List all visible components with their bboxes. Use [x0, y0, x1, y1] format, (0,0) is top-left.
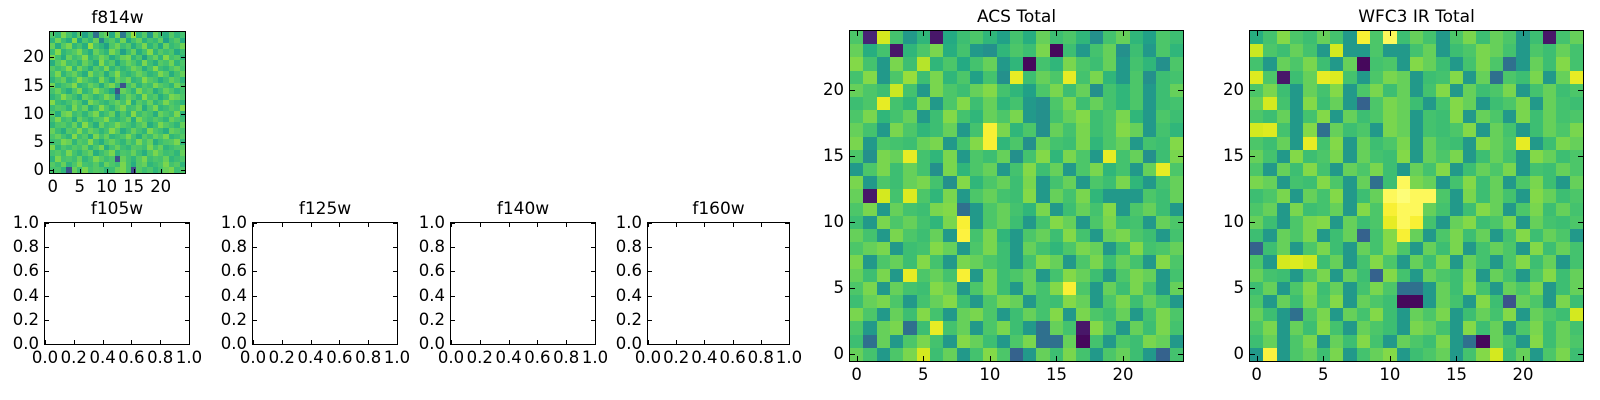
y-tick-mark: [591, 344, 595, 345]
x-tick-mark: [339, 340, 340, 344]
y-tick-mark: [185, 247, 189, 248]
y-tick-mark: [1578, 156, 1583, 157]
matplotlib-figure: f814w0510152005101520f105w0.00.20.40.60.…: [0, 0, 1600, 400]
y-tick-label: 1.0: [419, 215, 445, 232]
x-tick-label: 20: [1113, 367, 1134, 384]
x-tick-mark: [1523, 356, 1524, 361]
x-tick-label: 0.4: [691, 350, 717, 367]
y-tick-mark: [591, 296, 595, 297]
y-tick-label: 10: [1223, 214, 1244, 231]
y-tick-label: 0.2: [221, 312, 247, 329]
x-tick-mark: [733, 340, 734, 344]
x-tick-label: 15: [123, 179, 144, 196]
x-tick-mark: [733, 223, 734, 227]
x-tick-mark: [1523, 31, 1524, 36]
x-tick-mark: [676, 340, 677, 344]
x-tick-mark: [1390, 31, 1391, 36]
x-tick-mark: [1456, 31, 1457, 36]
x-tick-mark: [80, 32, 81, 36]
y-tick-mark: [785, 271, 789, 272]
x-tick-mark: [857, 31, 858, 36]
x-tick-mark: [990, 356, 991, 361]
y-tick-mark: [1178, 156, 1183, 157]
y-tick-mark: [253, 271, 257, 272]
y-tick-mark: [1250, 222, 1255, 223]
y-tick-mark: [45, 223, 49, 224]
y-tick-mark: [451, 247, 455, 248]
y-tick-mark: [393, 223, 397, 224]
y-tick-mark: [850, 90, 855, 91]
y-tick-label: 0.6: [419, 263, 445, 280]
y-tick-label: 20: [823, 82, 844, 99]
x-tick-label: 5: [1318, 367, 1329, 384]
y-tick-label: 0.0: [616, 336, 642, 353]
y-tick-label: 0.2: [13, 312, 39, 329]
x-tick-mark: [161, 169, 162, 173]
y-tick-mark: [785, 296, 789, 297]
x-tick-mark: [923, 31, 924, 36]
y-tick-mark: [1250, 90, 1255, 91]
x-tick-label: 0.8: [355, 350, 381, 367]
y-tick-mark: [393, 344, 397, 345]
x-tick-mark: [1323, 356, 1324, 361]
x-tick-label: 0: [47, 179, 58, 196]
x-tick-mark: [566, 340, 567, 344]
x-tick-mark: [595, 340, 596, 344]
y-tick-mark: [185, 320, 189, 321]
x-tick-label: 1.0: [384, 350, 410, 367]
x-tick-mark: [857, 356, 858, 361]
y-tick-mark: [785, 320, 789, 321]
x-tick-label: 5: [74, 179, 85, 196]
x-tick-mark: [189, 223, 190, 227]
y-tick-label: 0.6: [616, 263, 642, 280]
x-tick-mark: [761, 223, 762, 227]
x-tick-label: 1.0: [176, 350, 202, 367]
x-tick-label: 0.4: [495, 350, 521, 367]
f105w-axes-axes-frame: f105w0.00.20.40.60.81.00.00.20.40.60.81.…: [44, 222, 190, 345]
wfc3-ir-total-heatmap-title: WFC3 IR Total: [1358, 9, 1475, 26]
x-tick-mark: [160, 340, 161, 344]
y-tick-mark: [451, 296, 455, 297]
x-tick-label: 0.6: [719, 350, 745, 367]
y-tick-label: 0: [834, 346, 845, 363]
y-tick-mark: [253, 320, 257, 321]
x-tick-label: 0: [851, 367, 862, 384]
x-tick-mark: [566, 223, 567, 227]
y-tick-mark: [648, 320, 652, 321]
y-tick-label: 0.8: [419, 239, 445, 256]
y-tick-label: 0.4: [419, 287, 445, 304]
y-tick-label: 0.8: [221, 239, 247, 256]
x-tick-mark: [537, 340, 538, 344]
y-tick-mark: [591, 223, 595, 224]
y-tick-mark: [50, 114, 54, 115]
x-tick-mark: [480, 223, 481, 227]
y-tick-mark: [50, 170, 54, 171]
y-tick-mark: [648, 344, 652, 345]
f814w-heatmap-axes-frame: f814w0510152005101520: [49, 31, 186, 174]
y-tick-mark: [393, 271, 397, 272]
f125w-axes-axes-frame: f125w0.00.20.40.60.81.00.00.20.40.60.81.…: [252, 222, 398, 345]
f140w-axes-title: f140w: [497, 201, 549, 218]
y-tick-label: 1.0: [221, 215, 247, 232]
y-tick-label: 15: [1223, 148, 1244, 165]
y-tick-mark: [253, 247, 257, 248]
x-tick-mark: [509, 340, 510, 344]
y-tick-mark: [850, 288, 855, 289]
y-tick-mark: [1178, 90, 1183, 91]
y-tick-label: 10: [823, 214, 844, 231]
y-tick-label: 0.8: [13, 239, 39, 256]
y-tick-mark: [591, 320, 595, 321]
x-tick-mark: [134, 32, 135, 36]
y-tick-mark: [45, 247, 49, 248]
x-tick-mark: [282, 223, 283, 227]
y-tick-mark: [591, 271, 595, 272]
y-tick-label: 5: [34, 134, 45, 151]
x-tick-label: 0.6: [524, 350, 550, 367]
y-tick-mark: [253, 296, 257, 297]
x-tick-label: 5: [918, 367, 929, 384]
y-tick-mark: [1178, 288, 1183, 289]
x-tick-mark: [595, 223, 596, 227]
x-tick-label: 0.2: [467, 350, 493, 367]
x-tick-label: 0.6: [326, 350, 352, 367]
y-tick-mark: [393, 320, 397, 321]
x-tick-label: 15: [1046, 367, 1067, 384]
y-tick-label: 0.6: [13, 263, 39, 280]
x-tick-label: 10: [979, 367, 1000, 384]
y-tick-label: 0: [34, 162, 45, 179]
acs-total-heatmap-title: ACS Total: [977, 9, 1056, 26]
x-tick-mark: [923, 356, 924, 361]
x-tick-mark: [368, 223, 369, 227]
y-tick-label: 0.2: [616, 312, 642, 329]
y-tick-mark: [785, 223, 789, 224]
x-tick-mark: [397, 223, 398, 227]
y-tick-mark: [850, 222, 855, 223]
y-tick-label: 1.0: [616, 215, 642, 232]
y-tick-mark: [785, 247, 789, 248]
y-tick-mark: [185, 271, 189, 272]
y-tick-label: 0.4: [13, 287, 39, 304]
x-tick-mark: [103, 340, 104, 344]
x-tick-label: 20: [150, 179, 171, 196]
y-tick-label: 0.0: [221, 336, 247, 353]
x-tick-mark: [53, 32, 54, 36]
x-tick-mark: [339, 223, 340, 227]
x-tick-label: 0.2: [663, 350, 689, 367]
x-tick-mark: [103, 223, 104, 227]
y-tick-mark: [648, 247, 652, 248]
y-tick-mark: [648, 271, 652, 272]
y-tick-mark: [45, 320, 49, 321]
f125w-axes-title: f125w: [299, 201, 351, 218]
y-tick-label: 20: [1223, 82, 1244, 99]
y-tick-mark: [45, 271, 49, 272]
y-tick-mark: [850, 354, 855, 355]
x-tick-mark: [134, 169, 135, 173]
f814w-heatmap-cells: [50, 32, 185, 173]
x-tick-mark: [160, 223, 161, 227]
x-tick-mark: [131, 223, 132, 227]
y-tick-label: 0.6: [221, 263, 247, 280]
x-tick-label: 1.0: [776, 350, 802, 367]
y-tick-mark: [50, 57, 54, 58]
y-tick-label: 5: [834, 280, 845, 297]
x-tick-mark: [189, 340, 190, 344]
y-tick-mark: [50, 142, 54, 143]
wfc3-ir-total-heatmap-axes-frame: WFC3 IR Total0510152005101520: [1249, 30, 1584, 362]
y-tick-label: 20: [23, 49, 44, 66]
y-tick-mark: [451, 344, 455, 345]
y-tick-mark: [648, 223, 652, 224]
y-tick-mark: [1178, 354, 1183, 355]
y-tick-mark: [45, 296, 49, 297]
y-tick-mark: [1578, 288, 1583, 289]
y-tick-mark: [181, 170, 185, 171]
y-tick-mark: [591, 247, 595, 248]
y-tick-label: 0.0: [419, 336, 445, 353]
x-tick-label: 0.2: [269, 350, 295, 367]
y-tick-mark: [1578, 90, 1583, 91]
f140w-axes-axes-frame: f140w0.00.20.40.60.81.00.00.20.40.60.81.…: [450, 222, 596, 345]
x-tick-mark: [990, 31, 991, 36]
x-tick-mark: [397, 340, 398, 344]
x-tick-mark: [537, 223, 538, 227]
x-tick-mark: [480, 340, 481, 344]
y-tick-mark: [1578, 222, 1583, 223]
f814w-heatmap-title: f814w: [91, 10, 143, 27]
y-tick-mark: [1578, 354, 1583, 355]
x-tick-mark: [1257, 31, 1258, 36]
x-tick-mark: [107, 32, 108, 36]
y-tick-mark: [648, 296, 652, 297]
x-tick-label: 0.4: [89, 350, 115, 367]
x-tick-mark: [1323, 31, 1324, 36]
x-tick-label: 0: [1251, 367, 1262, 384]
y-tick-mark: [393, 296, 397, 297]
x-tick-mark: [74, 223, 75, 227]
y-tick-mark: [253, 223, 257, 224]
y-tick-mark: [1250, 156, 1255, 157]
y-tick-label: 0.4: [221, 287, 247, 304]
acs-total-heatmap-axes-frame: ACS Total0510152005101520: [849, 30, 1184, 362]
x-tick-mark: [789, 223, 790, 227]
y-tick-mark: [1250, 354, 1255, 355]
x-tick-mark: [1456, 356, 1457, 361]
x-tick-mark: [282, 340, 283, 344]
y-tick-mark: [50, 86, 54, 87]
x-tick-label: 15: [1446, 367, 1467, 384]
x-tick-label: 0.4: [297, 350, 323, 367]
y-tick-label: 15: [823, 148, 844, 165]
y-tick-mark: [451, 223, 455, 224]
y-tick-label: 0.0: [13, 336, 39, 353]
y-tick-mark: [181, 86, 185, 87]
y-tick-mark: [393, 247, 397, 248]
x-tick-mark: [161, 32, 162, 36]
x-tick-mark: [311, 223, 312, 227]
x-tick-label: 10: [96, 179, 117, 196]
f105w-axes-title: f105w: [91, 201, 143, 218]
x-tick-mark: [74, 340, 75, 344]
x-tick-mark: [311, 340, 312, 344]
x-tick-label: 0.2: [61, 350, 87, 367]
x-tick-mark: [131, 340, 132, 344]
y-tick-mark: [1178, 222, 1183, 223]
f160w-axes-axes-frame: f160w0.00.20.40.60.81.00.00.20.40.60.81.…: [647, 222, 790, 345]
x-tick-label: 10: [1379, 367, 1400, 384]
x-tick-mark: [704, 340, 705, 344]
y-tick-mark: [181, 142, 185, 143]
x-tick-label: 0.8: [748, 350, 774, 367]
y-tick-mark: [785, 344, 789, 345]
y-tick-mark: [1250, 288, 1255, 289]
y-tick-label: 0: [1234, 346, 1245, 363]
x-tick-label: 0.8: [147, 350, 173, 367]
y-tick-mark: [850, 156, 855, 157]
y-tick-mark: [181, 114, 185, 115]
x-tick-mark: [368, 340, 369, 344]
x-tick-mark: [676, 223, 677, 227]
y-tick-label: 15: [23, 77, 44, 94]
x-tick-mark: [1390, 356, 1391, 361]
wfc3-ir-total-heatmap-cells: [1250, 31, 1583, 361]
y-tick-label: 1.0: [13, 215, 39, 232]
x-tick-mark: [107, 169, 108, 173]
y-tick-label: 5: [1234, 280, 1245, 297]
y-tick-mark: [45, 344, 49, 345]
y-tick-mark: [451, 320, 455, 321]
x-tick-mark: [80, 169, 81, 173]
x-tick-label: 0.8: [553, 350, 579, 367]
y-tick-mark: [185, 344, 189, 345]
x-tick-mark: [761, 340, 762, 344]
y-tick-label: 10: [23, 106, 44, 123]
y-tick-label: 0.8: [616, 239, 642, 256]
x-tick-mark: [1056, 356, 1057, 361]
x-tick-mark: [704, 223, 705, 227]
x-tick-label: 1.0: [582, 350, 608, 367]
x-tick-mark: [1123, 31, 1124, 36]
y-tick-mark: [185, 296, 189, 297]
x-tick-label: 0.6: [118, 350, 144, 367]
x-tick-mark: [1257, 356, 1258, 361]
y-tick-mark: [253, 344, 257, 345]
x-tick-mark: [789, 340, 790, 344]
y-tick-mark: [181, 57, 185, 58]
x-tick-mark: [1123, 356, 1124, 361]
y-tick-label: 0.4: [616, 287, 642, 304]
y-tick-mark: [185, 223, 189, 224]
x-tick-label: 20: [1513, 367, 1534, 384]
y-tick-label: 0.2: [419, 312, 445, 329]
x-tick-mark: [1056, 31, 1057, 36]
f160w-axes-title: f160w: [692, 201, 744, 218]
y-tick-mark: [451, 271, 455, 272]
x-tick-mark: [509, 223, 510, 227]
acs-total-heatmap-cells: [850, 31, 1183, 361]
